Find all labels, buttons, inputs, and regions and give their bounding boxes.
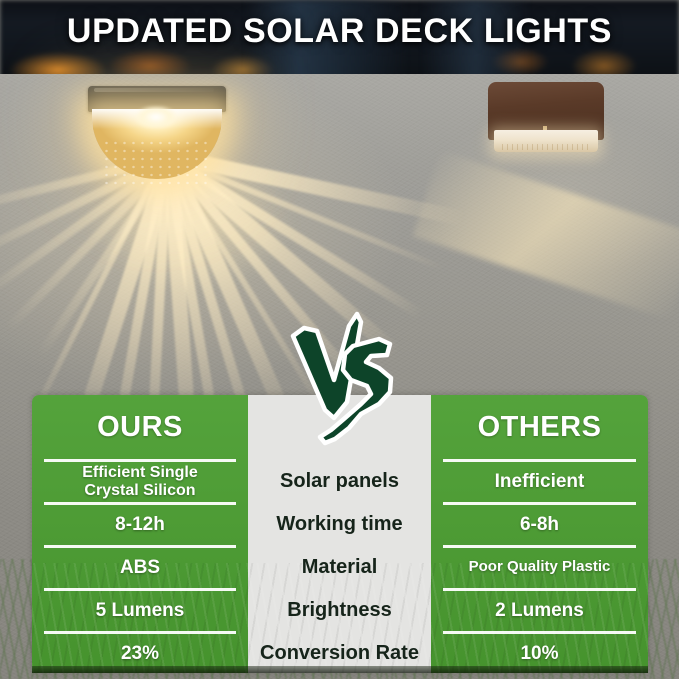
table-row: Efficient SingleCrystal SiliconSolar pan…	[32, 460, 648, 503]
table-row: 8-12hWorking time6-8h	[32, 503, 648, 546]
cell-others: 6-8h	[431, 503, 648, 546]
table-bottom-shadow	[32, 666, 648, 673]
led-hotspot	[136, 106, 176, 128]
cell-ours: ABS	[32, 546, 248, 589]
header-ours: OURS	[32, 395, 248, 460]
cell-ours: Efficient SingleCrystal Silicon	[32, 460, 248, 503]
lens-prism-texture	[102, 139, 212, 187]
competitor-light-fixture	[488, 82, 604, 166]
cell-ours: 8-12h	[32, 503, 248, 546]
cell-others: Inefficient	[431, 460, 648, 503]
cell-others: Poor Quality Plastic	[431, 546, 648, 589]
header-others: OTHERS	[431, 395, 648, 460]
table-row: 5 LumensBrightness2 Lumens	[32, 589, 648, 632]
vs-badge	[287, 306, 405, 446]
competitor-lens	[494, 130, 598, 152]
table-row: ABSMaterialPoor Quality Plastic	[32, 546, 648, 589]
cell-feature: Material	[248, 546, 431, 589]
product-comparison-image: UPDATED SOLAR DECK LIGHTS OURSOTHERSEffi…	[0, 0, 679, 679]
cell-feature: Working time	[248, 503, 431, 546]
cell-ours: 5 Lumens	[32, 589, 248, 632]
cell-others: 2 Lumens	[431, 589, 648, 632]
cell-feature: Brightness	[248, 589, 431, 632]
vs-icon	[287, 306, 405, 446]
cell-feature: Solar panels	[248, 460, 431, 503]
page-title: UPDATED SOLAR DECK LIGHTS	[0, 12, 679, 51]
our-light-fixture	[84, 86, 230, 190]
